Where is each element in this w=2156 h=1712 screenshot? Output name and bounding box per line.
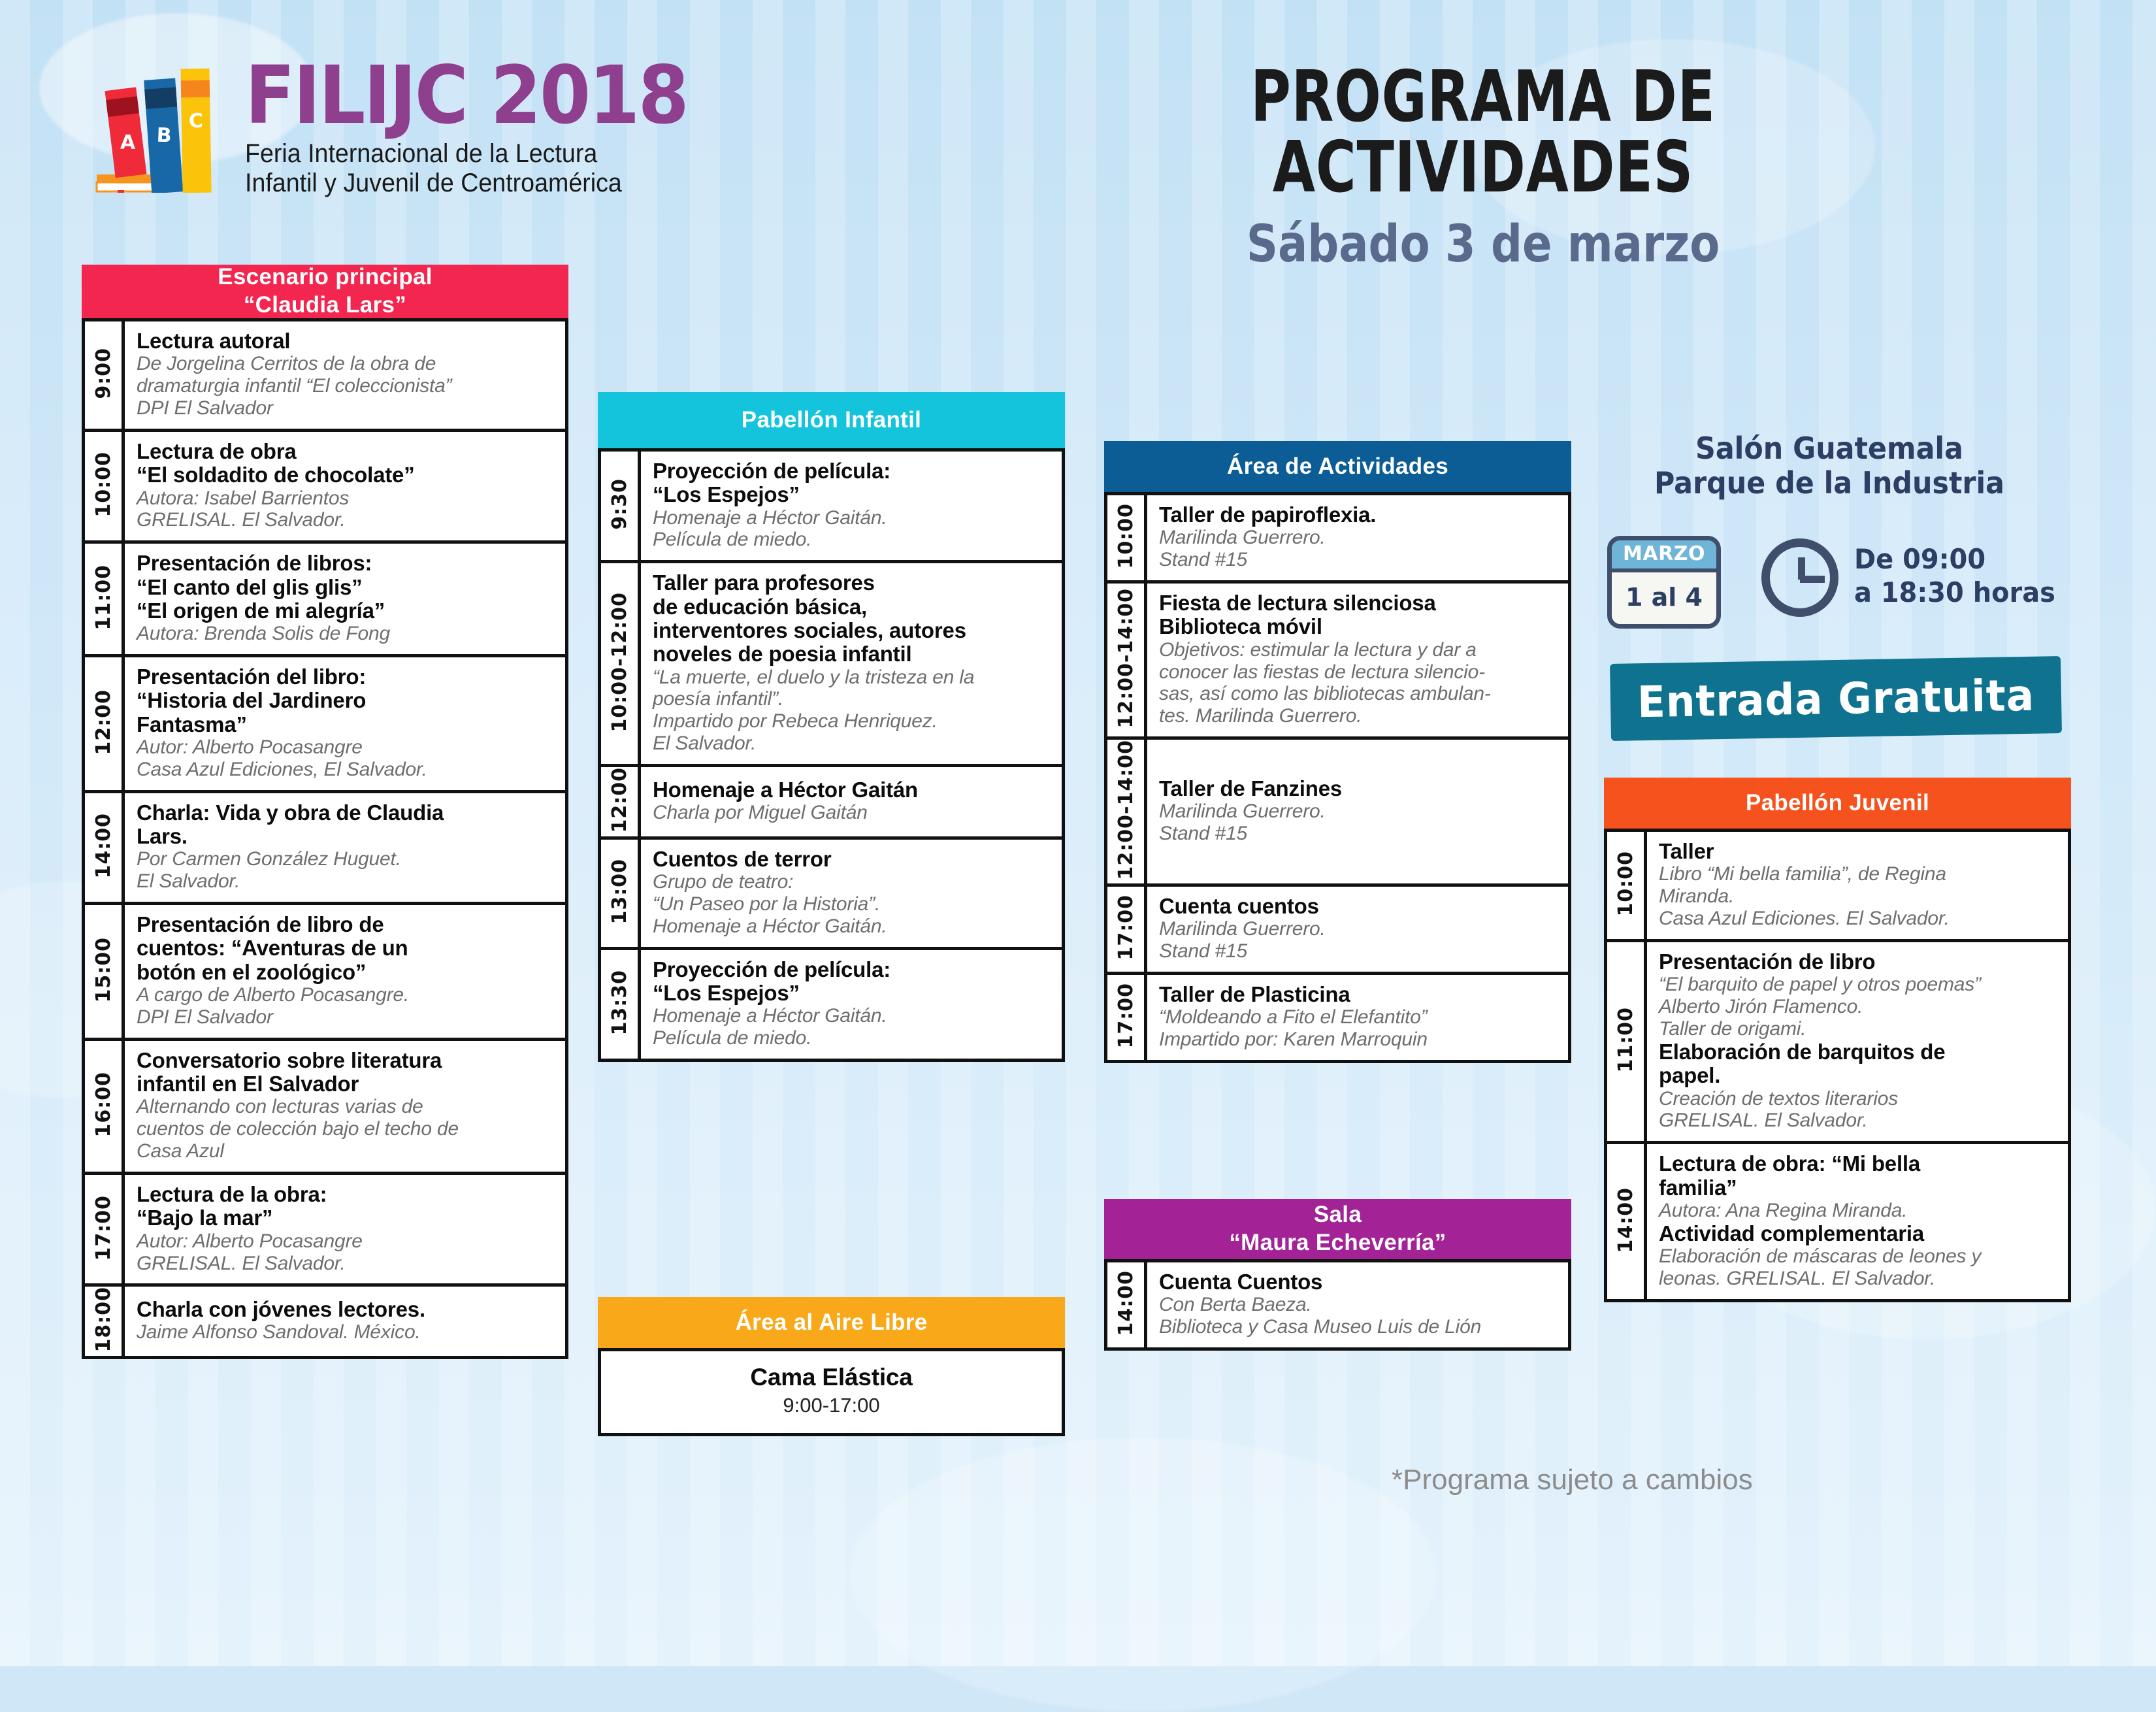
table-row: 12:00Homenaje a Héctor GaitánCharla por …	[600, 766, 1064, 838]
row-subtitle: Marilinda Guerrero.Stand #15	[1159, 800, 1559, 845]
row-time-cell: 17:00	[1106, 973, 1146, 1061]
row-title: Lectura autoral	[137, 329, 556, 353]
row-content-cell: Presentación de libro“El barquito de pap…	[1646, 940, 2070, 1142]
row-subtitle: Marilinda Guerrero.Stand #15	[1159, 918, 1559, 963]
row-subtitle: Autor: Alberto PocasangreGRELISAL. El Sa…	[137, 1230, 556, 1275]
row-time: 13:30	[608, 970, 631, 1036]
svg-text:B: B	[156, 124, 172, 148]
row-time-cell: 10:00	[1606, 831, 1646, 941]
row-subtitle: “Moldeando a Fito el Elefantito”Impartid…	[1159, 1006, 1559, 1051]
row-subtitle: “La muerte, el duelo y la tristeza en la…	[653, 667, 1053, 755]
row-time-cell: 12:00	[84, 656, 123, 792]
abc-books-icon: A B C	[85, 62, 235, 193]
row-time-cell: 11:00	[1606, 940, 1646, 1142]
row-subtitle: Homenaje a Héctor Gaitán.Película de mie…	[653, 1005, 1053, 1049]
svg-text:A: A	[120, 131, 137, 154]
row-subtitle: Autor: Alberto PocasangreCasa Azul Edici…	[137, 736, 556, 781]
row-time-cell: 9:30	[600, 450, 640, 562]
row-content-cell: Lectura de obra: “Mi bellafamilia”Autora…	[1646, 1143, 2070, 1301]
table-row: 11:00Presentación de libros:“El canto de…	[84, 542, 567, 656]
page-title: PROGRAMA DE ACTIVIDADES	[1121, 62, 1845, 203]
event-info-bar: MARZO 1 al 4 De 09:00 a 18:30 horas	[1607, 536, 2078, 627]
row-title: Taller de Fanzines	[1159, 777, 1559, 800]
row-title: Homenaje a Héctor Gaitán	[653, 778, 1053, 802]
row-time-cell: 13:30	[600, 948, 640, 1060]
row-time: 17:00	[1115, 983, 1137, 1049]
row-content-cell: Taller para profesoresde educación básic…	[640, 562, 1064, 766]
row-title: Fiesta de lectura silenciosaBiblioteca m…	[1159, 591, 1559, 639]
opening-hours-line2: a 18:30 horas	[1854, 576, 2055, 609]
row-time-cell: 10:00-12:00	[600, 562, 640, 766]
clock-minute-hand	[1800, 576, 1825, 583]
free-entrance-label: Entrada Gratuita	[1637, 670, 2034, 727]
schedule-table-sala: 14:00Cuenta CuentosCon Berta Baeza.Bibli…	[1104, 1259, 1571, 1351]
row-time-cell: 15:00	[84, 904, 123, 1040]
row-time-cell: 14:00	[1106, 1261, 1146, 1349]
brand-subtitle: Feria Internacional de la Lectura Infant…	[245, 139, 697, 198]
table-row: 17:00Cuenta cuentosMarilinda Guerrero.St…	[1106, 885, 1570, 973]
row-content-cell: Taller de FanzinesMarilinda Guerrero.Sta…	[1146, 738, 1570, 885]
row-content-cell: Taller de papiroflexia.Marilinda Guerrer…	[1146, 494, 1570, 582]
schedule-table-juvenil: 10:00TallerLibro “Mi bella familia”, de …	[1604, 829, 2071, 1302]
row-title: Taller de Plasticina	[1159, 983, 1559, 1006]
table-row: 12:00-14:00Fiesta de lectura silenciosaB…	[1106, 582, 1570, 738]
row-title: Proyección de película:“Los Espejos”	[653, 958, 1053, 1006]
row-subtitle: De Jorgelina Cerritos de la obra dedrama…	[137, 353, 556, 420]
svg-text:C: C	[189, 110, 204, 133]
row-subtitle: Grupo de teatro:“Un Paseo por la Histori…	[653, 871, 1053, 938]
table-row: 14:00Cuenta CuentosCon Berta Baeza.Bibli…	[1106, 1261, 1570, 1349]
row-time: 10:00	[1614, 851, 1637, 917]
row-subtitle: Alternando con lecturas varias decuentos…	[137, 1096, 556, 1162]
table-row: 10:00-12:00Taller para profesoresde educ…	[600, 562, 1064, 766]
table-row: 11:00Presentación de libro“El barquito d…	[1606, 940, 2070, 1142]
row-time-cell: 16:00	[84, 1039, 123, 1173]
row-subtitle: Jaime Alfonso Sandoval. México.	[137, 1321, 556, 1343]
row-content-cell: Charla: Vida y obra de ClaudiaLars.Por C…	[123, 791, 567, 903]
panel-header-infantil: Pabellón Infantil	[598, 392, 1065, 448]
row-subtitle: Autora: Ana Regina Miranda.	[1659, 1200, 2059, 1222]
panel-header-juvenil: Pabellón Juvenil	[1604, 778, 2071, 829]
row-content-cell: Fiesta de lectura silenciosaBiblioteca m…	[1146, 582, 1570, 738]
venue-info: Salón Guatemala Parque de la Industria	[1588, 431, 2071, 501]
row-time-cell: 14:00	[84, 791, 123, 903]
row-title-secondary: Actividad complementaria	[1659, 1222, 2059, 1245]
row-time: 14:00	[1115, 1270, 1137, 1336]
row-content-cell: Cuenta CuentosCon Berta Baeza.Biblioteca…	[1146, 1261, 1570, 1349]
table-row: 16:00Conversatorio sobre literaturainfan…	[84, 1039, 567, 1173]
schedule-table-aire-libre: Cama Elástica 9:00-17:00	[598, 1348, 1065, 1436]
program-header: PROGRAMA DE ACTIVIDADES Sábado 3 de marz…	[1019, 62, 1947, 274]
row-title: Taller para profesoresde educación básic…	[653, 571, 1053, 666]
row-time: 12:00	[608, 767, 631, 833]
venue-line1: Salón Guatemala	[1605, 431, 2054, 466]
table-row: 10:00Lectura de obra“El soldadito de cho…	[84, 430, 567, 542]
row-time: 12:00-14:00	[1115, 740, 1137, 880]
row-content-cell: Conversatorio sobre literaturainfantil e…	[123, 1039, 567, 1173]
row-time-cell: 12:00-14:00	[1106, 738, 1146, 885]
row-content-cell: Lectura autoralDe Jorgelina Cerritos de …	[123, 320, 567, 431]
row-content-cell: Lectura de la obra:“Bajo la mar”Autor: A…	[123, 1174, 567, 1285]
row-time-cell: 17:00	[1106, 885, 1146, 973]
brand-subtitle-line1: Feria Internacional de la Lectura	[245, 139, 697, 169]
row-subtitle: Marilinda Guerrero.Stand #15	[1159, 527, 1559, 571]
row-content-cell: TallerLibro “Mi bella familia”, de Regin…	[1646, 831, 2070, 941]
row-content-cell: Homenaje a Héctor GaitánCharla por Migue…	[640, 766, 1064, 838]
table-row: 15:00Presentación de libro decuentos: “A…	[84, 904, 567, 1040]
table-row: 9:30Proyección de película:“Los Espejos”…	[600, 450, 1064, 562]
panel-header-sala: Sala“Maura Echeverría”	[1104, 1199, 1571, 1259]
calendar-icon: MARZO 1 al 4	[1607, 536, 1721, 629]
table-row: 10:00Taller de papiroflexia.Marilinda Gu…	[1106, 494, 1570, 582]
panel-pabellon-juvenil: Pabellón Juvenil 10:00TallerLibro “Mi be…	[1604, 778, 2071, 1302]
row-time-cell: 12:00	[600, 766, 640, 838]
row-content-cell: Presentación de libros:“El canto del gli…	[123, 542, 567, 656]
row-subtitle-secondary: Creación de textos literariosGRELISAL. E…	[1659, 1088, 2059, 1132]
row-content-cell: Presentación del libro:“Historia del Jar…	[123, 656, 567, 792]
table-row: 13:00Cuentos de terrorGrupo de teatro:“U…	[600, 838, 1064, 948]
brand-logo: A B C FILIJC 2018 Feria Internacional de…	[85, 62, 804, 193]
row-title: Lectura de obra: “Mi bellafamilia”	[1659, 1152, 2059, 1200]
row-subtitle: “El barquito de papel y otros poemas”Alb…	[1659, 974, 2059, 1040]
panel-escenario-principal: Escenario principal“Claudia Lars” 9:00Le…	[82, 265, 568, 1359]
row-time: 17:00	[92, 1195, 115, 1261]
schedule-table-actividades: 10:00Taller de papiroflexia.Marilinda Gu…	[1104, 492, 1571, 1063]
panel-header-escenario: Escenario principal“Claudia Lars”	[82, 265, 568, 318]
panel-pabellon-infantil: Pabellón Infantil 9:30Proyección de pelí…	[598, 392, 1065, 1062]
table-row: 17:00Lectura de la obra:“Bajo la mar”Aut…	[84, 1174, 567, 1285]
row-content-cell: Proyección de película:“Los Espejos”Home…	[640, 948, 1064, 1060]
venue-line2: Parque de la Industria	[1605, 466, 2054, 501]
row-title: Lectura de obra“El soldadito de chocolat…	[137, 440, 556, 487]
row-content-cell: Presentación de libro decuentos: “Aventu…	[123, 904, 567, 1040]
brand-title: FILIJC 2018	[245, 56, 687, 135]
opening-hours: De 09:00 a 18:30 horas	[1854, 542, 2055, 609]
row-time-cell: 14:00	[1606, 1143, 1646, 1301]
row-subtitle: Autora: Brenda Solis de Fong	[137, 623, 556, 645]
row-time: 15:00	[92, 937, 115, 1003]
row-time: 17:00	[1115, 895, 1137, 961]
row-time-cell: 17:00	[84, 1174, 123, 1285]
table-row: Cama Elástica 9:00-17:00	[600, 1350, 1064, 1435]
aire-activity-time: 9:00-17:00	[608, 1394, 1055, 1417]
row-title: Cuenta cuentos	[1159, 895, 1559, 918]
table-row: 18:00Charla con jóvenes lectores.Jaime A…	[84, 1285, 567, 1358]
row-title-secondary: Elaboración de barquitos depapel.	[1659, 1040, 2059, 1088]
program-date: Sábado 3 de marzo	[1084, 215, 1882, 274]
row-time: 12:00-14:00	[1115, 588, 1137, 728]
row-title: Taller	[1659, 840, 2059, 863]
row-time: 9:00	[92, 348, 115, 399]
aire-activity-cell: Cama Elástica 9:00-17:00	[600, 1350, 1064, 1435]
row-time: 10:00-12:00	[608, 592, 631, 732]
row-content-cell: Cuenta cuentosMarilinda Guerrero.Stand #…	[1146, 885, 1570, 973]
row-title: Presentación de libros:“El canto del gli…	[137, 551, 556, 623]
row-time: 14:00	[1614, 1187, 1637, 1253]
panel-area-actividades: Área de Actividades 10:00Taller de papir…	[1104, 441, 1571, 1063]
row-title: Taller de papiroflexia.	[1159, 503, 1559, 527]
row-time-cell: 12:00-14:00	[1106, 582, 1146, 738]
row-time-cell: 18:00	[84, 1285, 123, 1358]
row-title: Presentación de libro decuentos: “Aventu…	[137, 913, 556, 984]
row-subtitle: A cargo de Alberto Pocasangre.DPI El Sal…	[137, 984, 556, 1029]
table-row: 13:30Proyección de película:“Los Espejos…	[600, 948, 1064, 1060]
row-time-cell: 10:00	[1106, 494, 1146, 582]
panel-header-aire-libre: Área al Aire Libre	[598, 1297, 1065, 1348]
row-time: 10:00	[92, 452, 115, 518]
row-content-cell: Taller de Plasticina“Moldeando a Fito el…	[1146, 973, 1570, 1061]
calendar-days: 1 al 4	[1612, 572, 1716, 612]
row-subtitle: Autora: Isabel BarrientosGRELISAL. El Sa…	[137, 487, 556, 532]
row-title: Conversatorio sobre literaturainfantil e…	[137, 1049, 556, 1096]
row-time-cell: 11:00	[84, 542, 123, 656]
row-content-cell: Charla con jóvenes lectores.Jaime Alfons…	[123, 1285, 567, 1358]
row-title: Lectura de la obra:“Bajo la mar”	[137, 1183, 556, 1230]
table-row: 14:00Charla: Vida y obra de ClaudiaLars.…	[84, 791, 567, 903]
row-subtitle: Homenaje a Héctor Gaitán.Película de mie…	[653, 507, 1053, 551]
row-subtitle: Objetivos: estimular la lectura y dar ac…	[1159, 639, 1559, 728]
panel-sala-maura-echeverria: Sala“Maura Echeverría” 14:00Cuenta Cuent…	[1104, 1199, 1571, 1351]
row-subtitle: Charla por Miguel Gaitán	[653, 802, 1053, 824]
clock-icon	[1761, 538, 1838, 617]
brand-subtitle-line2: Infantil y Juvenil de Centroamérica	[245, 169, 697, 198]
row-title: Charla con jóvenes lectores.	[137, 1298, 556, 1321]
table-row: 14:00Lectura de obra: “Mi bellafamilia”A…	[1606, 1143, 2070, 1301]
row-time-cell: 10:00	[84, 430, 123, 542]
table-row: 9:00Lectura autoralDe Jorgelina Cerritos…	[84, 320, 567, 431]
table-row: 12:00-14:00Taller de FanzinesMarilinda G…	[1106, 738, 1570, 885]
row-subtitle: Libro “Mi bella familia”, de ReginaMiran…	[1659, 863, 2059, 930]
row-time: 11:00	[1614, 1007, 1637, 1073]
row-title: Charla: Vida y obra de ClaudiaLars.	[137, 801, 556, 849]
footnote: *Programa sujeto a cambios	[1392, 1464, 1753, 1496]
row-title: Proyección de película:“Los Espejos”	[653, 459, 1053, 507]
table-row: 12:00Presentación del libro:“Historia de…	[84, 656, 567, 792]
row-time: 14:00	[92, 813, 115, 879]
panel-header-actividades: Área de Actividades	[1104, 441, 1571, 492]
table-row: 10:00TallerLibro “Mi bella familia”, de …	[1606, 831, 2070, 941]
row-content-cell: Cuentos de terrorGrupo de teatro:“Un Pas…	[640, 838, 1064, 948]
row-time: 12:00	[92, 689, 115, 755]
row-title: Cuenta Cuentos	[1159, 1270, 1559, 1294]
row-time: 11:00	[92, 565, 115, 631]
row-time-cell: 9:00	[84, 320, 123, 431]
opening-hours-line1: De 09:00	[1854, 542, 2055, 576]
row-subtitle: Por Carmen González Huguet.El Salvador.	[137, 848, 556, 893]
row-time: 18:00	[92, 1287, 115, 1353]
row-title: Presentación del libro:“Historia del Jar…	[137, 665, 556, 736]
row-time-cell: 13:00	[600, 838, 640, 948]
free-entrance-banner: Entrada Gratuita	[1610, 656, 2062, 741]
schedule-table-infantil: 9:30Proyección de película:“Los Espejos”…	[598, 448, 1065, 1062]
row-time: 16:00	[92, 1072, 115, 1138]
panel-area-aire-libre: Área al Aire Libre Cama Elástica 9:00-17…	[598, 1297, 1065, 1436]
schedule-table-escenario: 9:00Lectura autoralDe Jorgelina Cerritos…	[82, 318, 568, 1359]
row-title: Cuentos de terror	[653, 848, 1053, 871]
row-content-cell: Proyección de película:“Los Espejos”Home…	[640, 450, 1064, 562]
row-title: Presentación de libro	[1659, 950, 2059, 974]
calendar-month: MARZO	[1612, 540, 1716, 572]
row-subtitle: Con Berta Baeza.Biblioteca y Casa Museo …	[1159, 1294, 1559, 1338]
row-time: 13:00	[608, 859, 631, 925]
aire-activity-title: Cama Elástica	[608, 1364, 1055, 1391]
row-subtitle-secondary: Elaboración de máscaras de leones yleona…	[1659, 1245, 2059, 1290]
row-time: 9:30	[608, 478, 631, 530]
row-content-cell: Lectura de obra“El soldadito de chocolat…	[123, 430, 567, 542]
row-time: 10:00	[1115, 503, 1137, 569]
table-row: 17:00Taller de Plasticina“Moldeando a Fi…	[1106, 973, 1570, 1061]
